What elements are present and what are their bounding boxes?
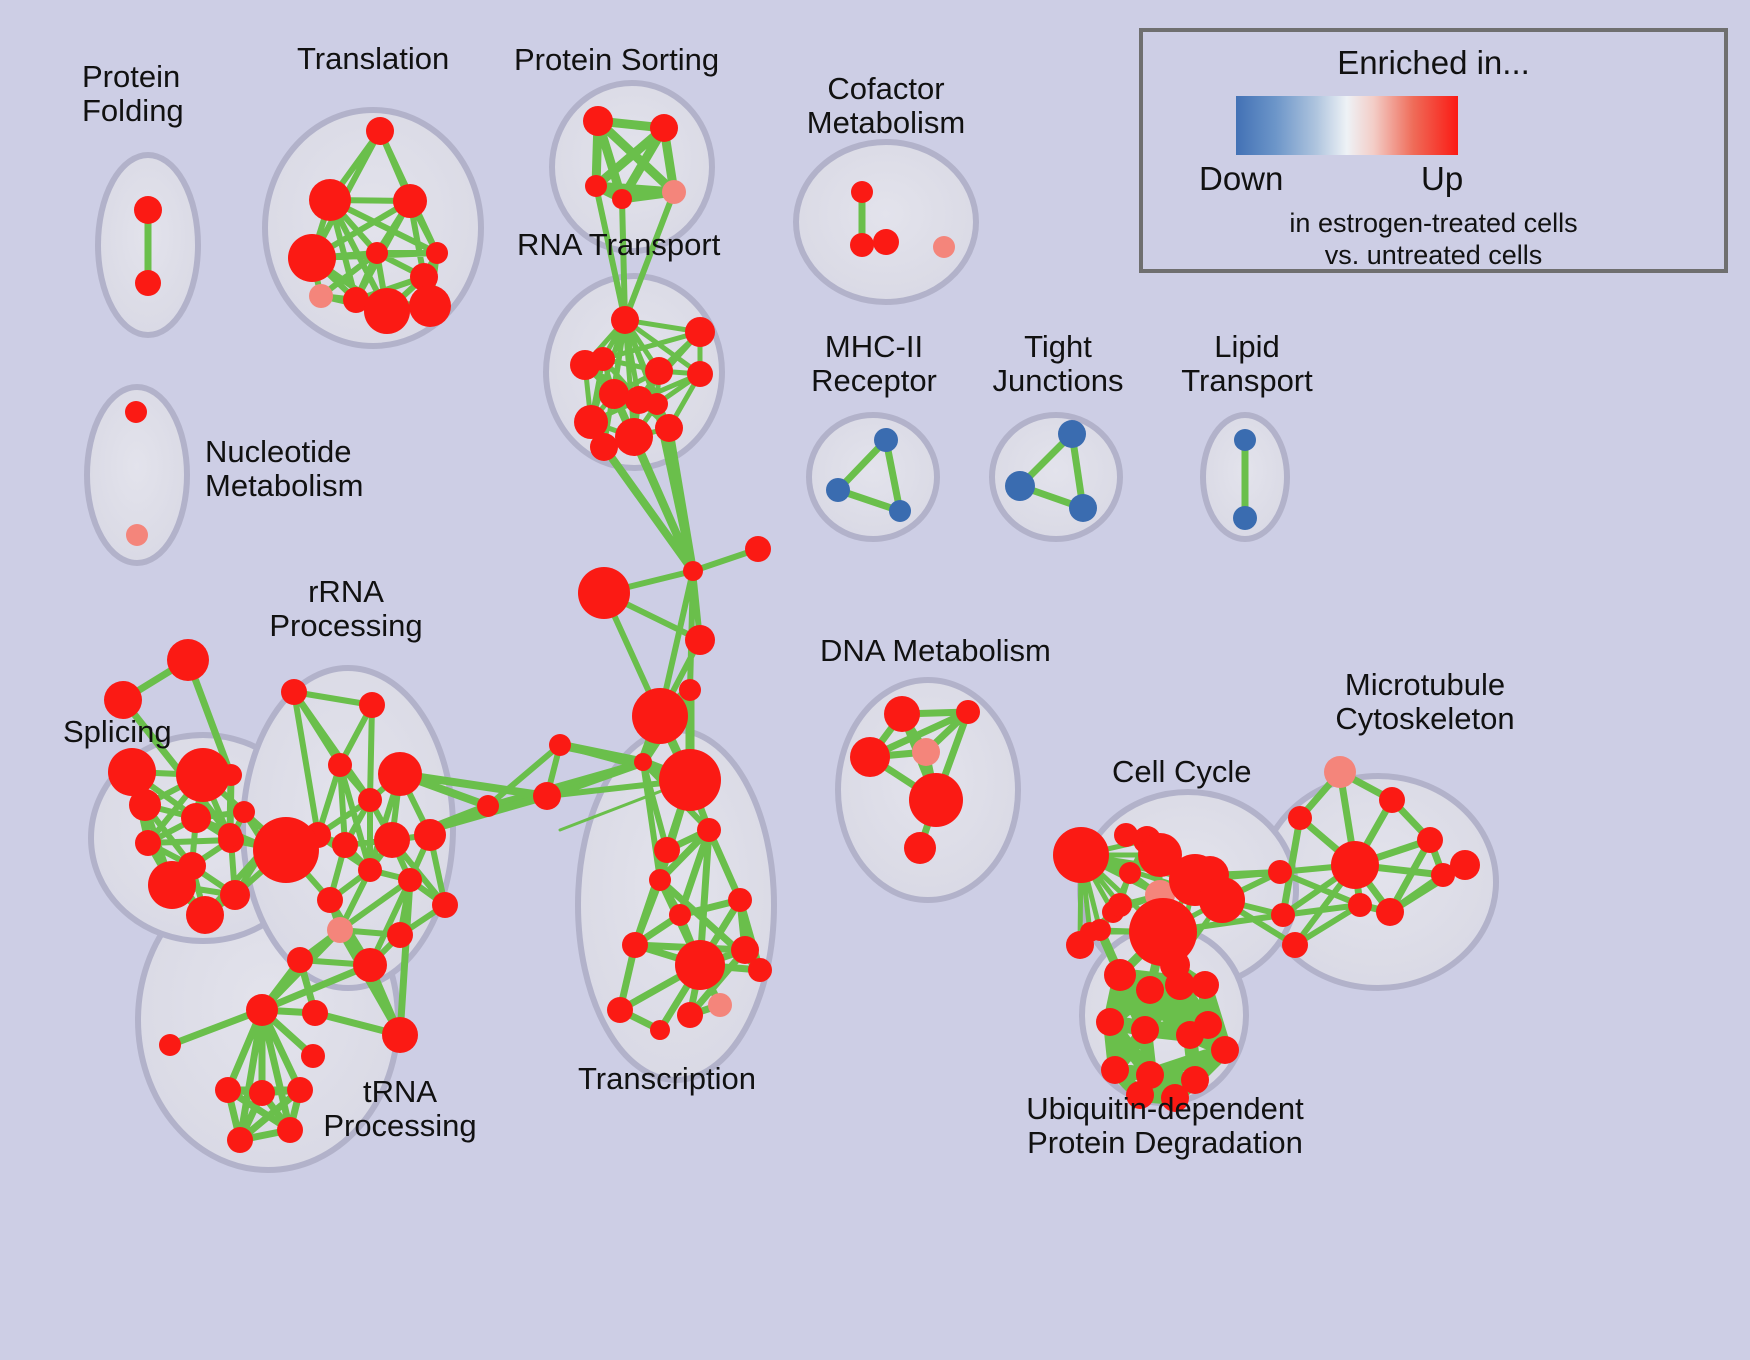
node xyxy=(1324,756,1356,788)
node xyxy=(393,184,427,218)
node xyxy=(649,869,671,891)
node xyxy=(612,189,632,209)
legend-caption-line1: in estrogen-treated cells xyxy=(1143,208,1724,239)
node xyxy=(1282,932,1308,958)
cluster-label-protein-sorting: Protein Sorting xyxy=(514,43,719,77)
node xyxy=(650,114,678,142)
node xyxy=(1108,893,1132,917)
node xyxy=(745,536,771,562)
node xyxy=(1080,922,1100,942)
node xyxy=(632,688,688,744)
cluster-label-ubiquitin-degradation: Ubiquitin-dependent Protein Degradation xyxy=(975,1092,1355,1160)
node xyxy=(662,180,686,204)
node xyxy=(1194,1011,1222,1039)
node xyxy=(1233,506,1257,530)
node xyxy=(1417,827,1443,853)
node xyxy=(904,832,936,864)
node xyxy=(669,904,691,926)
node xyxy=(246,994,278,1026)
node xyxy=(364,288,410,334)
node xyxy=(353,948,387,982)
legend-caption-line2: vs. untreated cells xyxy=(1143,240,1724,271)
node xyxy=(281,679,307,705)
node xyxy=(382,1017,418,1053)
node xyxy=(398,868,422,892)
node xyxy=(909,773,963,827)
cluster-label-dna-metabolism: DNA Metabolism xyxy=(820,634,1051,668)
node xyxy=(1331,841,1379,889)
legend-panel: Enriched in... Down Up in estrogen-treat… xyxy=(1139,28,1728,273)
node xyxy=(359,692,385,718)
node xyxy=(366,117,394,145)
legend-down-label: Down xyxy=(1199,160,1283,198)
node xyxy=(148,861,196,909)
node xyxy=(1268,860,1292,884)
node xyxy=(287,947,313,973)
node xyxy=(220,880,250,910)
node xyxy=(683,561,703,581)
node xyxy=(1005,471,1035,501)
legend-color-bar xyxy=(1236,96,1458,155)
figure-canvas: Protein Folding Translation Protein Sort… xyxy=(0,0,1750,1360)
node xyxy=(1211,1036,1239,1064)
node xyxy=(850,737,890,777)
hull-cofactor-metabolism xyxy=(796,142,976,302)
node xyxy=(1379,787,1405,813)
node xyxy=(1101,1056,1129,1084)
node xyxy=(432,892,458,918)
node xyxy=(134,196,162,224)
cluster-label-microtubule-cytoskeleton: Microtubule Cytoskeleton xyxy=(1300,668,1550,736)
node xyxy=(1058,420,1086,448)
cluster-label-translation: Translation xyxy=(297,42,449,76)
node xyxy=(708,993,732,1017)
node xyxy=(1136,976,1164,1004)
node xyxy=(129,789,161,821)
node xyxy=(607,997,633,1023)
node xyxy=(533,782,561,810)
node xyxy=(956,700,980,724)
node xyxy=(578,567,630,619)
node xyxy=(933,236,955,258)
node xyxy=(851,181,873,203)
node xyxy=(1119,862,1141,884)
node xyxy=(679,679,701,701)
node xyxy=(1096,1008,1124,1036)
node xyxy=(685,317,715,347)
node xyxy=(1165,970,1195,1000)
cluster-label-nucleotide-metabolism: Nucleotide Metabolism xyxy=(205,435,364,503)
node xyxy=(611,306,639,334)
node xyxy=(583,106,613,136)
cluster-label-trna-processing: tRNA Processing xyxy=(300,1075,500,1143)
node xyxy=(374,822,410,858)
cluster-label-protein-folding: Protein Folding xyxy=(82,60,184,128)
node xyxy=(1199,877,1245,923)
node xyxy=(685,625,715,655)
node xyxy=(728,888,752,912)
legend-title: Enriched in... xyxy=(1143,44,1724,82)
legend-up-label: Up xyxy=(1421,160,1463,198)
node xyxy=(159,1034,181,1056)
node xyxy=(748,958,772,982)
node xyxy=(1288,806,1312,830)
cluster-label-tight-junctions: Tight Junctions xyxy=(978,330,1138,398)
node xyxy=(590,433,618,461)
cluster-label-cofactor-metabolism: Cofactor Metabolism xyxy=(786,72,986,140)
node xyxy=(378,752,422,796)
node xyxy=(1131,1016,1159,1044)
node xyxy=(332,832,358,858)
node xyxy=(659,749,721,811)
node xyxy=(328,753,352,777)
node xyxy=(591,347,615,371)
node xyxy=(387,922,413,948)
cluster-label-rna-transport: RNA Transport xyxy=(517,228,720,262)
node xyxy=(645,357,673,385)
node xyxy=(176,748,230,802)
node xyxy=(675,940,725,990)
node xyxy=(477,795,499,817)
node xyxy=(650,1020,670,1040)
node xyxy=(125,401,147,423)
node xyxy=(218,823,242,847)
node xyxy=(317,887,343,913)
node xyxy=(358,788,382,812)
node xyxy=(634,753,652,771)
node xyxy=(366,242,388,264)
node xyxy=(697,818,721,842)
node xyxy=(309,284,333,308)
node xyxy=(687,361,713,387)
node xyxy=(1376,898,1404,926)
cluster-label-cell-cycle: Cell Cycle xyxy=(1112,755,1252,789)
node xyxy=(1234,429,1256,451)
node xyxy=(1191,971,1219,999)
node xyxy=(249,1080,275,1106)
node xyxy=(327,917,353,943)
node xyxy=(301,1044,325,1068)
node xyxy=(622,932,648,958)
node xyxy=(654,837,680,863)
node xyxy=(646,393,668,415)
node xyxy=(108,748,156,796)
node xyxy=(288,234,336,282)
node xyxy=(181,803,211,833)
cluster-label-splicing: Splicing xyxy=(63,715,172,749)
node xyxy=(677,1002,703,1028)
node xyxy=(884,696,920,732)
node xyxy=(126,524,148,546)
node xyxy=(599,379,629,409)
cluster-label-rrna-processing: rRNA Processing xyxy=(248,575,444,643)
node xyxy=(253,817,319,883)
node xyxy=(1348,893,1372,917)
cluster-label-transcription: Transcription xyxy=(578,1062,756,1096)
hull-protein-sorting xyxy=(552,83,712,251)
node xyxy=(874,428,898,452)
node xyxy=(186,896,224,934)
hull-mhc-ii xyxy=(809,415,937,539)
node xyxy=(167,639,209,681)
node xyxy=(409,285,451,327)
node xyxy=(1069,494,1097,522)
node xyxy=(135,830,161,856)
node xyxy=(358,858,382,882)
node xyxy=(873,229,899,255)
node xyxy=(426,242,448,264)
node xyxy=(1271,903,1295,927)
node xyxy=(655,414,683,442)
node xyxy=(309,179,351,221)
node xyxy=(1114,823,1138,847)
node xyxy=(302,1000,328,1026)
node xyxy=(912,738,940,766)
node xyxy=(414,819,446,851)
node xyxy=(549,734,571,756)
node xyxy=(135,270,161,296)
node xyxy=(215,1077,241,1103)
node xyxy=(585,175,607,197)
node xyxy=(889,500,911,522)
node xyxy=(615,418,653,456)
node xyxy=(850,233,874,257)
node xyxy=(1104,959,1136,991)
cluster-label-lipid-transport: Lipid Transport xyxy=(1167,330,1327,398)
node xyxy=(233,801,255,823)
node xyxy=(826,478,850,502)
cluster-label-mhc-ii-receptor: MHC-II Receptor xyxy=(788,330,960,398)
node xyxy=(227,1127,253,1153)
node xyxy=(1053,827,1109,883)
node xyxy=(1450,850,1480,880)
